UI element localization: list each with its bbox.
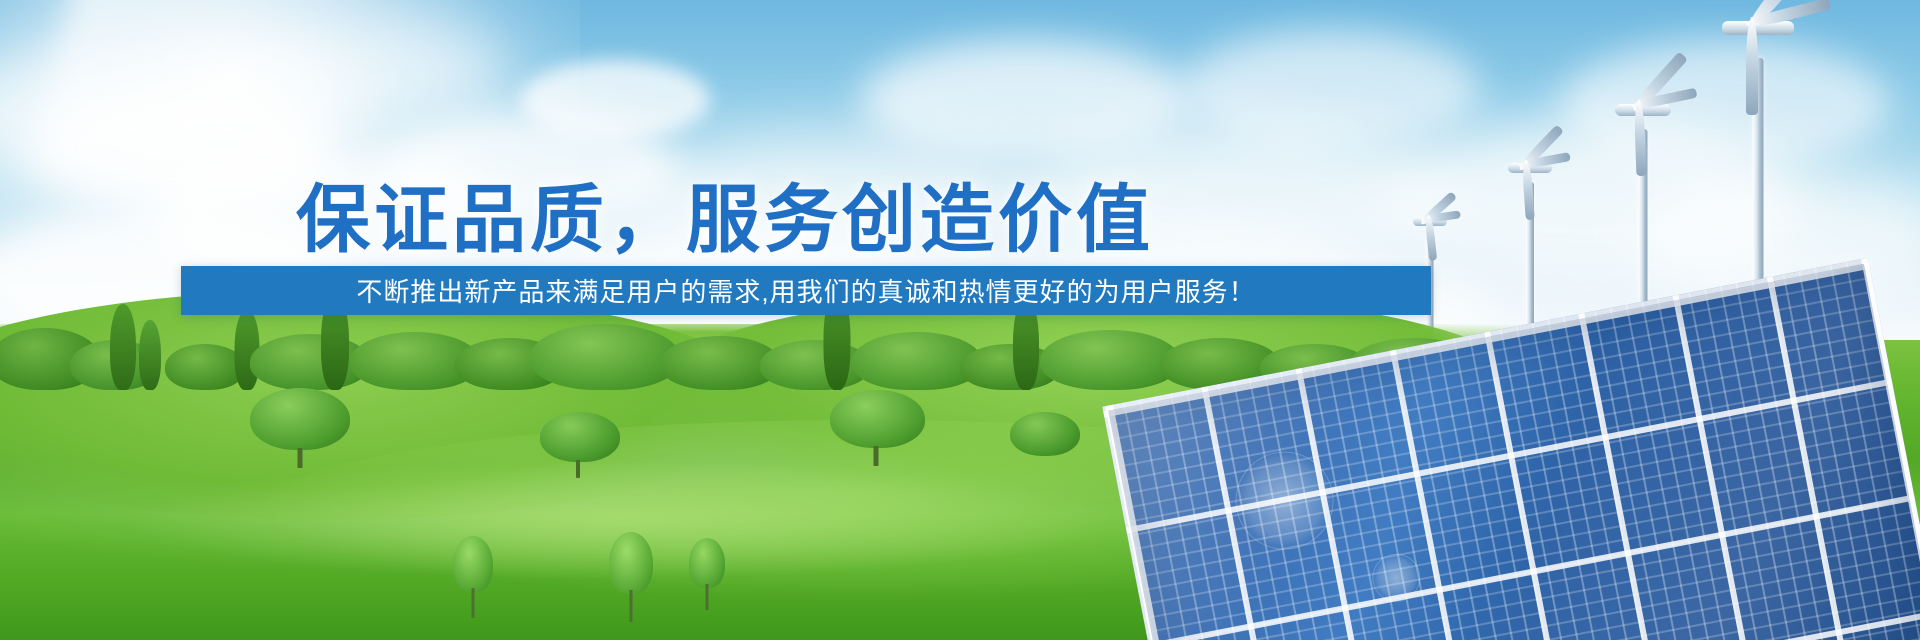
field-tree (540, 412, 620, 462)
conifer-tree (137, 320, 163, 390)
tree (530, 324, 680, 390)
sapling (608, 532, 654, 622)
hero-banner: 保证品质，服务创造价值 不断推出新产品来满足用户的需求,用我们的真诚和热情更好的… (0, 0, 1920, 640)
tree (1040, 330, 1180, 390)
cloud (250, 20, 510, 120)
subtitle-bar: 不断推出新产品来满足用户的需求,用我们的真诚和热情更好的为用户服务！ (181, 266, 1431, 315)
subtitle-text: 不断推出新产品来满足用户的需求,用我们的真诚和热情更好的为用户服务！ (356, 272, 1255, 309)
sapling (688, 538, 726, 610)
cloud (520, 60, 710, 140)
field-tree (830, 390, 925, 448)
sapling (452, 536, 494, 618)
field-tree (1010, 412, 1080, 456)
tree-trunk (576, 460, 580, 478)
turbine-blade (1746, 17, 1758, 115)
tree-trunk (298, 448, 303, 468)
page-title: 保证品质，服务创造价值 (296, 160, 996, 267)
tree-trunk (874, 446, 879, 466)
conifer-tree (108, 304, 138, 390)
field-tree (250, 388, 350, 450)
